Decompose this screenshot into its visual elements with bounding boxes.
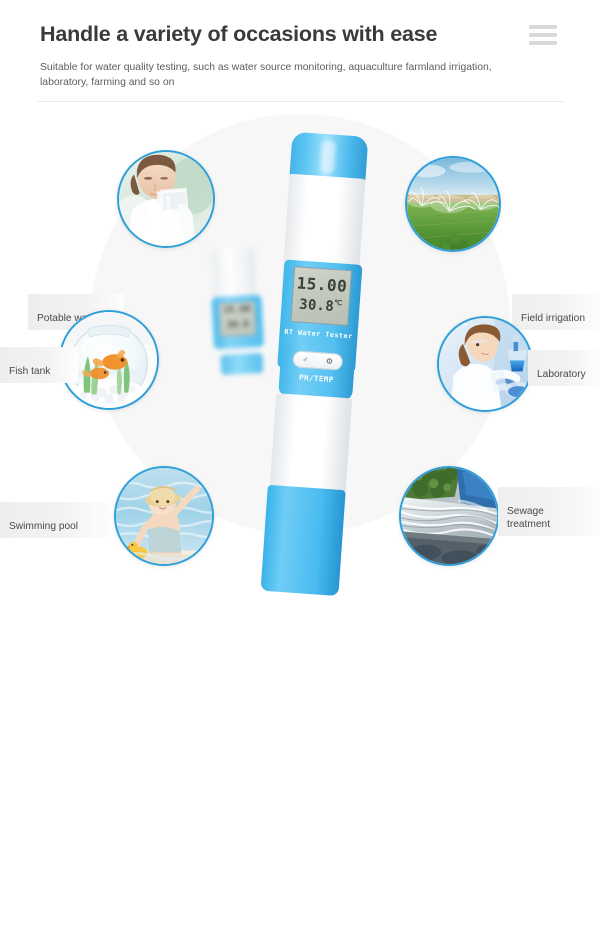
menu-bar-2 xyxy=(529,33,557,37)
label-text-fish-tank: Fish tank xyxy=(9,366,50,377)
secondary-device-lcd: 15.00 30.8 xyxy=(219,301,257,337)
secondary-lcd-sub: 30.8 xyxy=(221,317,256,334)
woman-drinking-water-photo xyxy=(119,152,213,246)
page-header: Handle a variety of occasions with ease … xyxy=(0,0,600,104)
label-laboratory: Laboratory xyxy=(528,350,600,386)
lcd-ph-value: 15.00 xyxy=(293,273,350,296)
label-text-laboratory: Laboratory xyxy=(537,369,586,380)
photo-field-irrigation[interactable] xyxy=(405,156,501,252)
hamburger-menu-icon[interactable] xyxy=(529,25,557,45)
secondary-device-body xyxy=(211,247,258,301)
infographic-stage: Potable water xyxy=(0,104,600,600)
photo-laboratory[interactable] xyxy=(437,316,533,412)
label-text-sewage-treatment: Sewage treatment xyxy=(507,506,550,530)
device-probe-highlight xyxy=(262,846,278,938)
photo-swimming-pool[interactable] xyxy=(114,466,214,566)
device-lower-body xyxy=(269,393,352,500)
lcd-temperature-unit: ℃ xyxy=(334,299,342,308)
label-sewage-treatment: Sewage treatment xyxy=(498,487,600,536)
thermometer-icon: ⚙ xyxy=(325,357,333,365)
device-probe-section xyxy=(261,485,346,596)
label-fish-tank: Fish tank xyxy=(0,347,78,383)
flowing-water-weir-photo xyxy=(401,468,497,564)
header-divider xyxy=(37,101,564,102)
page-subtitle: Suitable for water quality testing, such… xyxy=(40,60,530,90)
label-swimming-pool: Swimming pool xyxy=(0,502,110,538)
device-cap-highlight xyxy=(320,140,336,175)
scientist-with-blue-reagent-photo xyxy=(439,318,531,410)
label-text-swimming-pool: Swimming pool xyxy=(9,521,78,532)
photo-sewage-treatment[interactable] xyxy=(399,466,499,566)
child-in-swimming-pool-photo xyxy=(116,468,212,564)
lcd-temperature-value: 30.8 xyxy=(299,297,335,315)
ph-probe-icon: ♂ xyxy=(302,355,309,363)
secondary-lcd-main: 15.00 xyxy=(220,302,255,319)
device-lcd-display: 15.00 30.8℃ xyxy=(290,266,352,326)
device-mode-button[interactable]: ♂ ⚙ xyxy=(292,350,343,370)
page-title: Handle a variety of occasions with ease xyxy=(40,22,437,47)
label-field-irrigation: Field irrigation xyxy=(512,294,600,330)
label-text-field-irrigation: Field irrigation xyxy=(521,313,585,324)
lcd-temperature-row: 30.8℃ xyxy=(292,295,349,317)
menu-bar-1 xyxy=(529,25,557,29)
crop-field-sprinkler-irrigation-photo xyxy=(407,158,499,250)
menu-bar-3 xyxy=(529,41,557,45)
photo-potable-water[interactable] xyxy=(117,150,215,248)
